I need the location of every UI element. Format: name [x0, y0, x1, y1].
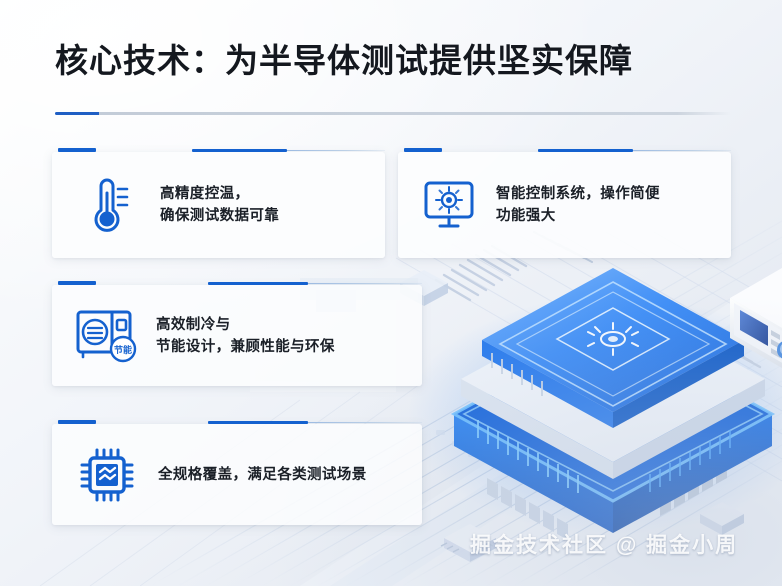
- watermark: 掘金技术社区 @ 掘金小周: [470, 533, 738, 559]
- accent-hairline: [308, 283, 422, 284]
- feature-card-intelligent-control-system[interactable]: 智能控制系统，操作简便 功能强大: [398, 152, 731, 258]
- accent-stub: [404, 148, 442, 152]
- page-title: 核心技术：为半导体测试提供坚实保障: [55, 38, 745, 84]
- thermometer-icon: [82, 177, 138, 233]
- slide-root: 核心技术：为半导体测试提供坚实保障: [0, 0, 782, 586]
- accent-hairline: [633, 150, 731, 151]
- feature-card-text: 高效制冷与 节能设计，兼顾性能与环保: [156, 314, 335, 358]
- accent-stub: [58, 148, 96, 152]
- feature-card-text: 全规格覆盖，满足各类测试场景: [158, 464, 367, 486]
- accent-bar: [208, 421, 308, 424]
- accent-stub: [58, 420, 96, 424]
- monitor-control-icon: [420, 178, 478, 232]
- card-accent-bar: [398, 148, 731, 152]
- feature-card-text: 高精度控温， 确保测试数据可靠: [160, 183, 279, 227]
- accent-bar: [192, 149, 287, 152]
- feature-card-efficient-cooling[interactable]: 节能 高效制冷与 节能设计，兼顾性能与环保: [52, 285, 422, 386]
- energy-saving-badge-label: 节能: [114, 344, 132, 355]
- card-accent-bar: [52, 148, 385, 152]
- card-accent-bar: [52, 281, 422, 285]
- accent-hairline: [308, 422, 422, 423]
- feature-card-text: 智能控制系统，操作简便 功能强大: [496, 183, 660, 227]
- title-divider: [55, 112, 731, 115]
- accent-stub: [58, 281, 96, 285]
- air-conditioner-icon: 节能: [72, 306, 142, 366]
- card-accent-bar: [52, 420, 422, 424]
- accent-hairline: [287, 150, 385, 151]
- accent-bar: [208, 282, 308, 285]
- page-title-block: 核心技术：为半导体测试提供坚实保障: [55, 38, 745, 84]
- feature-card-full-spec-coverage[interactable]: 全规格覆盖，满足各类测试场景: [52, 424, 422, 525]
- chip-icon: [74, 445, 140, 505]
- feature-card-high-precision-temperature[interactable]: 高精度控温， 确保测试数据可靠: [52, 152, 385, 258]
- accent-bar: [538, 149, 633, 152]
